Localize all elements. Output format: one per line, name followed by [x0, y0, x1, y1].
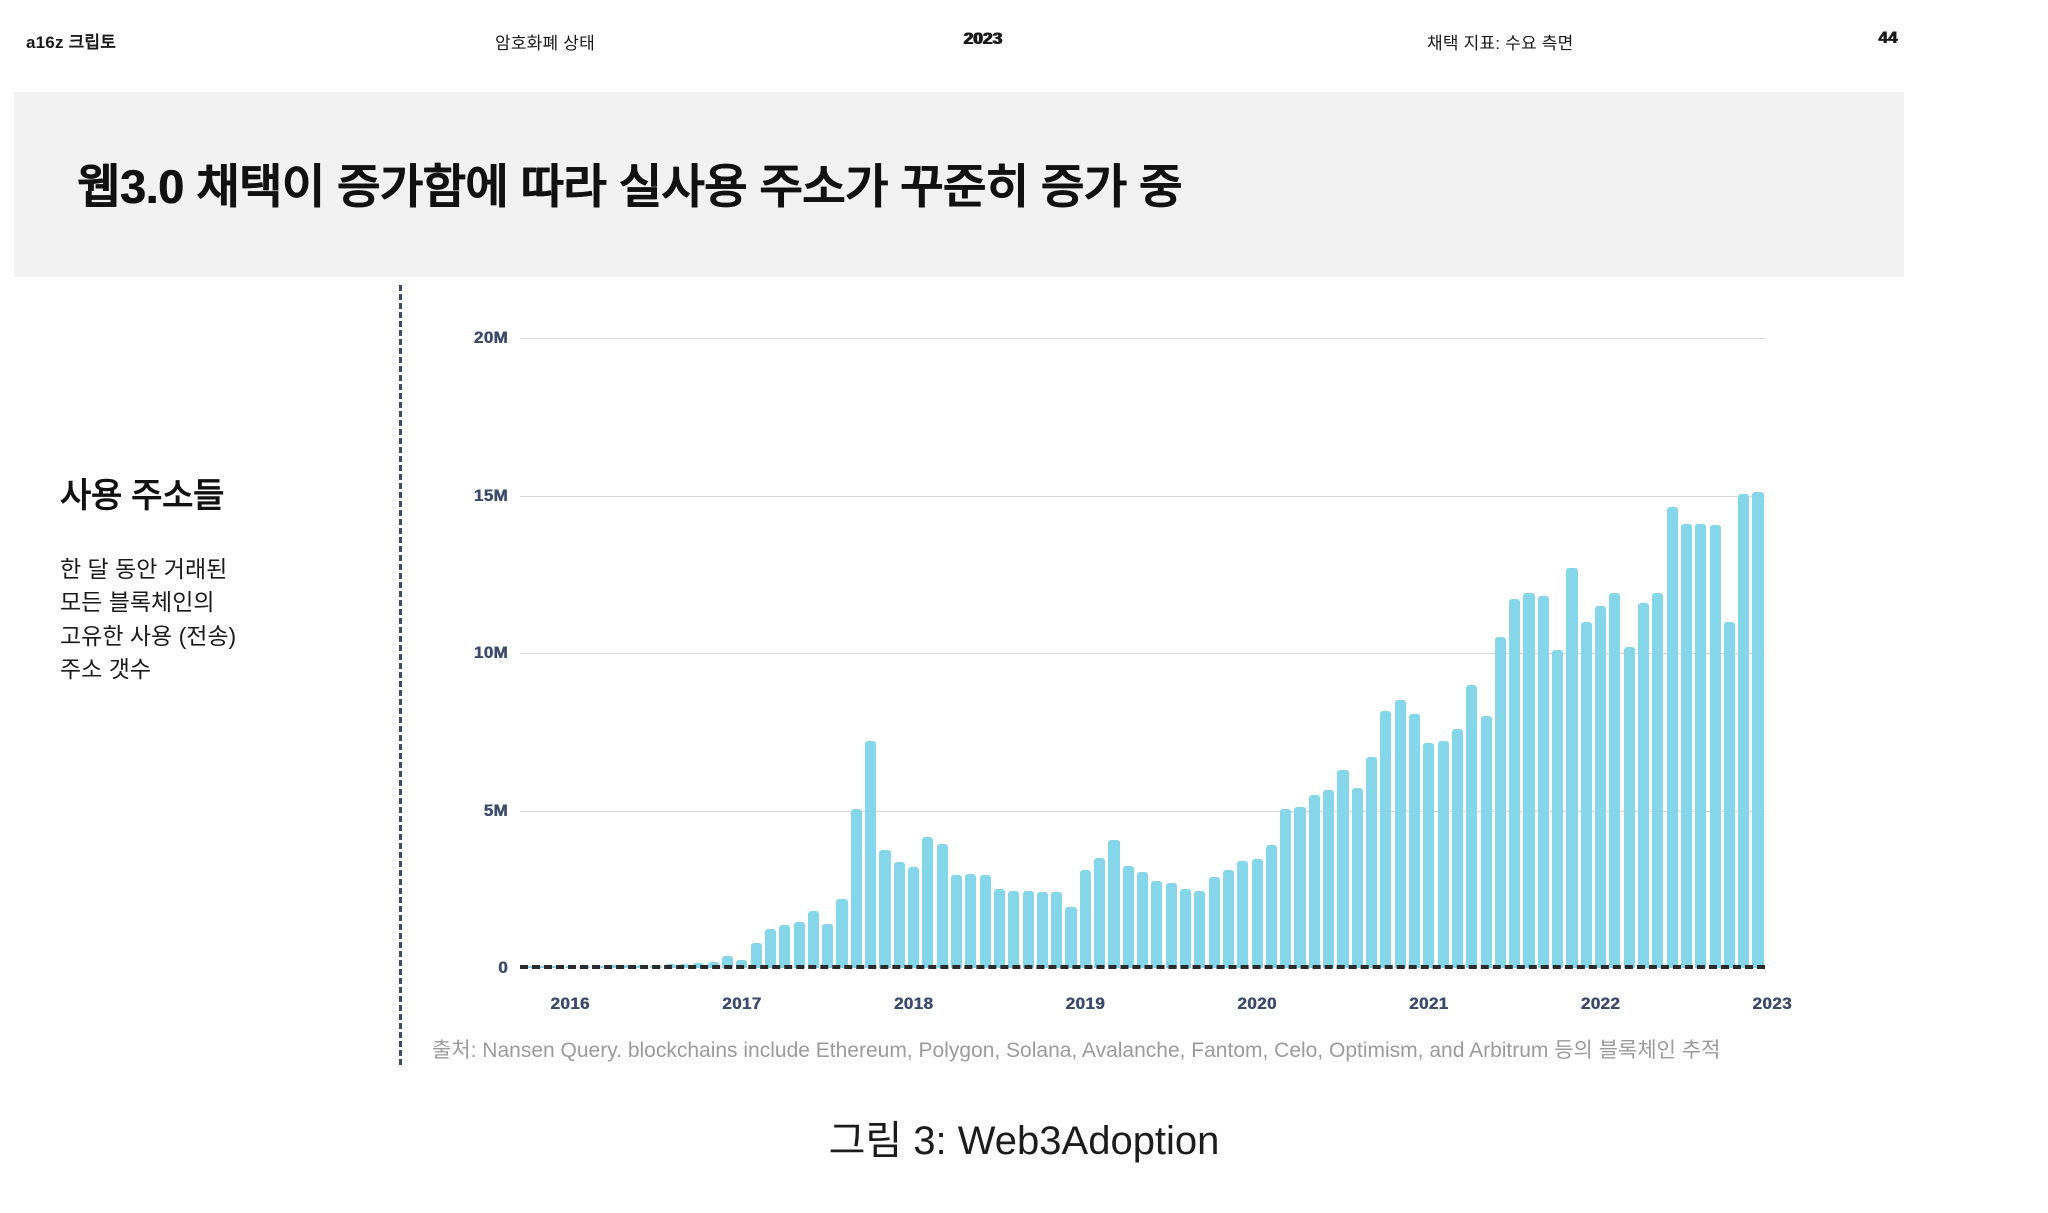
chart-y-tick-label: 10M [430, 643, 508, 663]
chart-bar [1037, 892, 1048, 968]
chart-bar [1509, 599, 1520, 968]
chart: 05M10M15M20M 201620172018201920202021202… [430, 300, 1840, 1020]
sidebar-description-line: 주소 갯수 [60, 653, 350, 686]
sidebar-description: 한 달 동안 거래된 모든 블록체인의 고유한 사용 (전송) 주소 갯수 [60, 553, 350, 686]
chart-bar [1752, 492, 1763, 968]
chart-bar [937, 844, 948, 968]
chart-bar [1595, 606, 1606, 968]
sidebar-divider [399, 285, 402, 1065]
chart-bar [765, 929, 776, 968]
chart-bar [1180, 889, 1191, 968]
chart-bar [1080, 870, 1091, 968]
chart-bar [1609, 593, 1620, 968]
chart-y-tick-label: 5M [430, 801, 508, 821]
chart-bar [1008, 891, 1019, 968]
page-title: 웹3.0 채택이 증가함에 따라 실사용 주소가 꾸준히 증가 중 [77, 148, 1182, 217]
chart-x-tick-label: 2019 [1066, 994, 1105, 1014]
chart-bar [1237, 861, 1248, 968]
chart-bar [1266, 845, 1277, 968]
chart-plot-area [520, 338, 1765, 968]
chart-bar [1366, 757, 1377, 968]
chart-bar [1294, 807, 1305, 968]
chart-bar [1581, 622, 1592, 969]
chart-bar [1466, 685, 1477, 969]
chart-bar [779, 925, 790, 968]
chart-bar [1065, 907, 1076, 968]
chart-bar [836, 899, 847, 968]
chart-x-tick-label: 2018 [894, 994, 933, 1014]
sidebar-description-line: 고유한 사용 (전송) [60, 620, 350, 653]
chart-bar [851, 809, 862, 968]
slide-header: a16z 크립토 암호화폐 상태 2023 채택 지표: 수요 측면 44 [0, 0, 2048, 72]
chart-bar [865, 741, 876, 968]
chart-baseline [520, 965, 1765, 969]
chart-bar [980, 875, 991, 968]
chart-bar [1051, 892, 1062, 968]
chart-bar [1123, 866, 1134, 968]
chart-bar [1023, 891, 1034, 968]
sidebar-description-line: 모든 블록체인의 [60, 586, 350, 619]
chart-bar [894, 862, 905, 968]
chart-bar [1209, 877, 1220, 968]
chart-bar [1352, 788, 1363, 968]
chart-bar [1738, 494, 1749, 968]
chart-bar [1681, 524, 1692, 968]
chart-bar [1538, 596, 1549, 968]
chart-bar [1337, 770, 1348, 968]
chart-x-tick-label: 2023 [1752, 994, 1791, 1014]
chart-bar [1108, 840, 1119, 968]
header-year: 2023 [963, 29, 1002, 49]
chart-bars [520, 338, 1765, 968]
chart-bar [1309, 795, 1320, 968]
chart-bar [1652, 593, 1663, 968]
chart-bar [1223, 870, 1234, 968]
chart-bar [922, 837, 933, 968]
chart-bar [1438, 741, 1449, 968]
chart-bar [1695, 524, 1706, 968]
chart-y-tick-label: 15M [430, 486, 508, 506]
chart-x-tick-label: 2022 [1581, 994, 1620, 1014]
chart-bar [1280, 809, 1291, 968]
title-band: 웹3.0 채택이 증가함에 따라 실사용 주소가 꾸준히 증가 중 [14, 92, 1904, 277]
chart-bar [1481, 716, 1492, 968]
chart-bar [1495, 637, 1506, 968]
chart-bar [822, 924, 833, 968]
header-section: 암호화폐 상태 [495, 29, 595, 54]
sidebar-description-line: 한 달 동안 거래된 [60, 553, 350, 586]
chart-bar [1710, 525, 1721, 968]
chart-bar [1194, 891, 1205, 968]
chart-bar [965, 874, 976, 969]
chart-bar [1624, 647, 1635, 968]
chart-bar [1638, 603, 1649, 968]
chart-bar [794, 922, 805, 968]
chart-bar [1151, 881, 1162, 968]
header-page-number: 44 [1878, 28, 1897, 48]
chart-x-axis: 20162017201820192020202120222023 [520, 990, 1765, 1020]
chart-bar [1566, 568, 1577, 968]
chart-bar [1380, 711, 1391, 968]
chart-x-tick-label: 2016 [550, 994, 589, 1014]
sidebar-heading: 사용 주소들 [60, 468, 224, 517]
chart-bar [1409, 714, 1420, 968]
chart-x-tick-label: 2020 [1237, 994, 1276, 1014]
chart-bar [1094, 858, 1105, 968]
chart-y-tick-label: 0 [430, 958, 508, 978]
chart-bar [1166, 883, 1177, 968]
chart-bar [1323, 790, 1334, 968]
chart-x-tick-label: 2017 [722, 994, 761, 1014]
chart-bar [1252, 859, 1263, 968]
chart-bar [1523, 593, 1534, 968]
chart-bar [808, 911, 819, 968]
chart-bar [951, 875, 962, 968]
chart-bar [1667, 507, 1678, 968]
chart-bar [1552, 650, 1563, 968]
figure-caption: 그림 3: Web3Adoption [0, 1108, 2048, 1166]
chart-y-tick-label: 20M [430, 328, 508, 348]
chart-bar [1452, 729, 1463, 968]
chart-bar [994, 889, 1005, 968]
chart-bar [1137, 872, 1148, 968]
source-note: 출처: Nansen Query. blockchains include Et… [432, 1034, 1720, 1064]
header-brand: a16z 크립토 [26, 28, 116, 53]
chart-bar [1423, 743, 1434, 968]
chart-x-tick-label: 2021 [1409, 994, 1448, 1014]
header-topic: 채택 지표: 수요 측면 [1427, 29, 1573, 54]
slide: a16z 크립토 암호화폐 상태 2023 채택 지표: 수요 측면 44 웹3… [0, 0, 2048, 1213]
chart-bar [908, 867, 919, 968]
chart-bar [879, 850, 890, 968]
chart-bar [1724, 622, 1735, 969]
chart-bar [1395, 700, 1406, 968]
